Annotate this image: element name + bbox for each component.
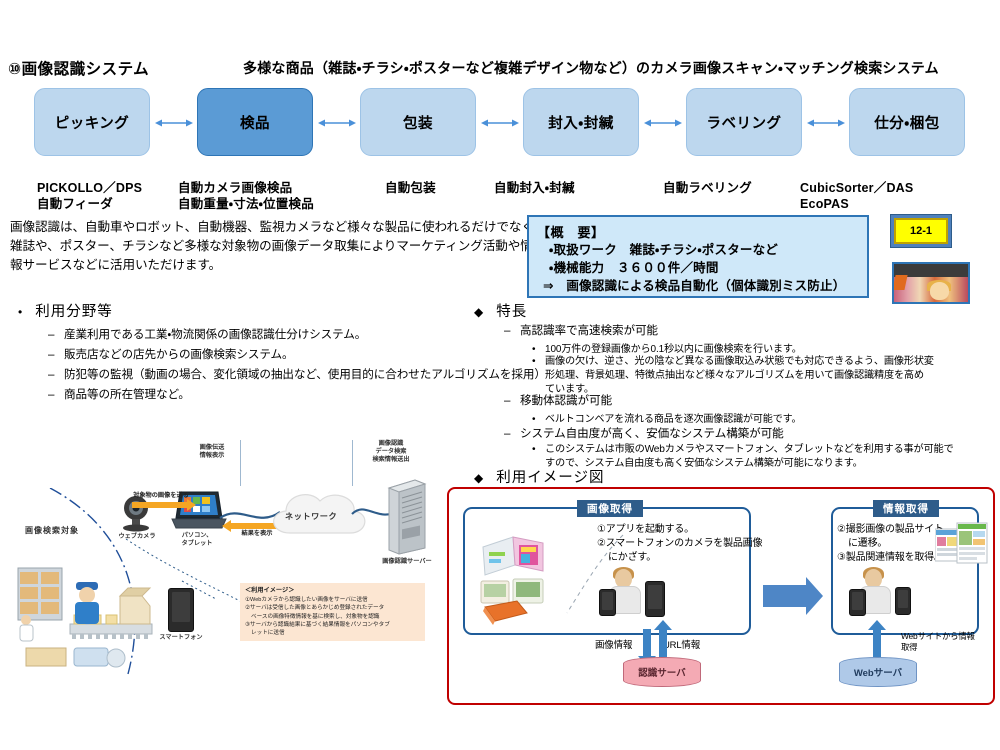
flow-step-label: ピッキング [55, 112, 130, 133]
fields-item-label: 商品等の所在管理など。 [64, 388, 190, 401]
dot-marker: • [532, 443, 545, 457]
flow-caption-picking: PICKOLLO／DPS 自動フィーダ [37, 180, 142, 212]
summary-box: 【概 要】 ・取扱ワーク 雑誌・チラシ・ポスターなど ・機械能力 ３６００件／時… [527, 215, 869, 298]
recognition-server-cylinder: 認識サーバ [623, 657, 701, 687]
fields-item-label: 防犯等の監視（動画の場合、変化領域の抽出など、使用目的に合わせたアルゴリズムを採… [64, 368, 546, 381]
label-line: データ検索 [355, 448, 427, 456]
label-network: ネットワーク [285, 510, 337, 522]
usage-note-title: ＜利用イメージ＞ [245, 587, 420, 595]
fields-item-4: –商品等の所在管理など。 [48, 386, 190, 402]
arrow-web-to-device [873, 629, 881, 657]
feature-group-label: システム自由度が高く、安価なシステム構築が可能 [520, 427, 784, 440]
label-search-target: 画像検索対象 [25, 525, 79, 536]
arrow-send-image [132, 502, 188, 508]
caption-line: 自動ラベリング [663, 180, 752, 196]
flow-step-label: 包装 [403, 112, 433, 133]
caption-line: EcoPAS [800, 196, 913, 212]
flow-step-label: 仕分・梱包 [874, 112, 939, 133]
intro-line: 雑誌や、ポスター、チラシなど多様な対象物の画像データ取集によりマーケティング活動… [10, 237, 490, 256]
usage-note-line-cont: ベースの画像特徴情報を基に検索し、対象物を認識 [245, 613, 420, 621]
usage-note-line: ①Webカメラから認識したい画像をサーバに送信 [245, 596, 420, 604]
flow-step-sorting[interactable]: 仕分・梱包 [849, 88, 965, 156]
diamond-marker: ◆ [474, 471, 484, 485]
feature-detail-2-1: •ベルトコンベアを流れる商品を逐次画像認識が可能です。 [532, 410, 801, 425]
section-heading-features: ◆特長 [474, 300, 527, 321]
image-acquisition-title: 画像取得 [577, 500, 643, 517]
flow-caption-enclosing: 自動封入・封緘 [494, 180, 575, 196]
label-send-image: 対象物の画像を送る [128, 492, 194, 500]
photo-character-face [930, 282, 949, 299]
information-acquisition-steps: ②撮影画像の製品サイト に遷移。 ③製品関連情報を取得。 [837, 523, 944, 565]
flow-arrow-3 [481, 118, 519, 127]
feature-group-label: 移動体認識が可能 [520, 394, 612, 407]
label-image-recognition-search: 画像認識 データ検索 検索情報送出 [355, 440, 427, 464]
slide-root: ⑩画像認識システム 多様な商品（雑誌・チラシ・ポスターなど複雑デザイン物など）の… [0, 0, 1000, 750]
flow-step-inspection[interactable]: 検品 [197, 88, 313, 156]
fields-item-2: –販売店などの店先からの画像検索システム。 [48, 346, 294, 362]
flow-caption-sorting: CubicSorter／DAS EcoPAS [800, 180, 913, 212]
dot-marker: • [532, 414, 545, 425]
usage-note-line: ②サーバは受信した画像とあらかじめ登録されたデータ [245, 604, 420, 612]
summary-title: 【概 要】 [537, 222, 867, 241]
feature-detail-label: ベルトコンベアを流れる商品を逐次画像認識が可能です。 [545, 414, 801, 425]
step-line: ②撮影画像の製品サイト [837, 524, 944, 535]
label-line: 画像認識 [355, 440, 427, 448]
arrow-url-from-server [659, 629, 667, 657]
usage-note-line: ③サーバから認識結果に基づく結果情報をパソコンやタブ [245, 621, 420, 629]
dash-marker: – [504, 324, 520, 337]
dash-marker: – [48, 348, 64, 361]
step-line: ③製品関連情報を取得。 [837, 552, 944, 563]
usage-note-line-cont: レットに送信 [245, 629, 420, 637]
dash-marker: – [48, 368, 64, 381]
column-divider-right [352, 440, 353, 486]
feature-detail-1-2: •画像の欠け、逆さ、光の陰など異なる画像取込み状態でも対応できるよう、画像形状変… [532, 355, 992, 397]
intro-line: 画像認識は、自動車やロボット、自動機器、監視カメラなど様々な製品に使われるだけで… [10, 218, 490, 237]
person-held-phone-right [849, 589, 866, 616]
store-shelf-photo [892, 262, 970, 304]
flow-caption-packing: 自動包装 [385, 180, 436, 196]
feature-detail-label: 100万件の登録画像から0.1秒以内に画像検索を行います。 [545, 344, 802, 355]
caption-line: 自動包装 [385, 180, 436, 196]
dash-marker: – [48, 388, 64, 401]
arrow-image-to-server [643, 629, 651, 657]
label-line: 情報表示 [182, 452, 242, 460]
label-recognition-server: 画像認識サーバー [374, 558, 440, 566]
flow-step-label: ラベリング [707, 112, 782, 133]
section-heading-usage: ◆利用イメージ図 [474, 466, 604, 487]
standalone-phone-right [895, 587, 911, 615]
section-heading-fields: •利用分野等 [18, 300, 113, 321]
fields-item-1: –産業利用である工業・物流関係の画像認識仕分けシステム。 [48, 326, 366, 342]
flow-arrow-1 [155, 118, 193, 127]
flow-step-packing[interactable]: 包装 [360, 88, 476, 156]
dot-marker: • [532, 355, 545, 369]
feature-group-label: 高認識率で高速検索が可能 [520, 324, 658, 337]
step-line-cont: に遷移。 [837, 537, 944, 551]
diamond-marker: ◆ [474, 305, 484, 319]
feature-group-2-title: –移動体認識が可能 [504, 392, 612, 408]
section-heading-label: 利用分野等 [35, 304, 113, 320]
caption-line: PICKOLLO／DPS [37, 180, 142, 196]
flow-step-label: 検品 [240, 112, 270, 133]
summary-item: ・機械能力 ３６００件／時間 [537, 259, 867, 277]
label-image-info: 画像情報 [595, 637, 632, 651]
flow-step-enclosing[interactable]: 封入・封緘 [523, 88, 639, 156]
dot-marker: • [532, 344, 545, 355]
caption-line: CubicSorter／DAS [800, 180, 913, 196]
flow-caption-inspection: 自動カメラ画像検品 自動重量・寸法・位置検品 [178, 180, 314, 212]
label-line: 画像伝送 [182, 444, 242, 452]
caption-line: 自動カメラ画像検品 [178, 180, 314, 196]
flow-step-label: 封入・封緘 [548, 112, 613, 133]
usage-note-box: ＜利用イメージ＞ ①Webカメラから認識したい画像をサーバに送信 ②サーバは受信… [240, 583, 425, 641]
dash-marker: – [48, 328, 64, 341]
feature-group-1-title: –高認識率で高速検索が可能 [504, 322, 658, 338]
web-server-cylinder: Webサーバ [839, 657, 917, 687]
caption-line: 自動封入・封緘 [494, 180, 575, 196]
label-image-transmission: 画像伝送 情報表示 [182, 444, 242, 460]
intro-line: 報サービスなどに活用いただけます。 [10, 256, 490, 275]
fields-item-3: –防犯等の監視（動画の場合、変化領域の抽出など、使用目的に合わせたアルゴリズムを… [48, 366, 546, 382]
page-subtitle: 多様な商品（雑誌・チラシ・ポスターなど複雑デザイン物など）のカメラ画像スキャン・… [243, 58, 939, 78]
flow-step-picking[interactable]: ピッキング [34, 88, 150, 156]
section-heading-label: 特長 [496, 304, 527, 320]
feature-detail-label: このシステムは市販のWebカメラやスマートフォン、タブレットなどを利用する事が可… [545, 444, 953, 455]
process-flow: ピッキング 検品 包装 封入・封緘 ラベリング 仕分・梱包 [34, 88, 964, 160]
bullet-marker: • [18, 305, 23, 319]
fields-item-label: 産業利用である工業・物流関係の画像認識仕分けシステム。 [64, 328, 366, 341]
feature-detail-label-cont: 形処理、背景処理、特徴点抽出など様々なアルゴリズムを用いて画像認識精度を高め [532, 369, 992, 383]
fields-item-label: 販売店などの店先からの画像検索システム。 [64, 348, 294, 361]
dash-marker: – [504, 394, 520, 407]
transition-arrow [763, 585, 807, 607]
label-web-info: Webサイトから情報取得 [901, 631, 981, 653]
dash-marker: – [504, 427, 520, 440]
intro-paragraph: 画像認識は、自動車やロボット、自動機器、監視カメラなど様々な製品に使われるだけで… [10, 218, 490, 275]
flow-arrow-2 [318, 118, 356, 127]
person-held-phone-left [599, 589, 616, 616]
flow-step-labeling[interactable]: ラベリング [686, 88, 802, 156]
page-title: ⑩画像認識システム [8, 57, 149, 79]
flow-caption-labeling: 自動ラベリング [663, 180, 752, 196]
feature-group-3-title: –システム自由度が高く、安価なシステム構築が可能 [504, 425, 784, 441]
section-heading-label: 利用イメージ図 [496, 470, 604, 486]
badge-label: 12-1 [894, 218, 948, 244]
usage-image-figure: 画像取得 ①アプリを起動する。 ②スマートフォンのカメラを製品画像 にかざす。 [447, 487, 995, 705]
flow-arrow-5 [807, 118, 845, 127]
website-thumbnails [935, 521, 989, 571]
label-url-info: URL情報 [663, 637, 700, 651]
page-number-badge: 12-1 [890, 214, 952, 248]
standalone-phone-left [645, 581, 665, 617]
summary-conclusion: ⇒ 画像認識による検品自動化（個体識別ミス防止） [537, 277, 867, 295]
feature-detail-1-1: •100万件の登録画像から0.1秒以内に画像検索を行います。 [532, 340, 802, 355]
label-line: 検索情報送出 [355, 456, 427, 464]
flow-arrow-4 [644, 118, 682, 127]
information-acquisition-title: 情報取得 [873, 500, 939, 517]
feature-detail-label: 画像の欠け、逆さ、光の陰など異なる画像取込み状態でも対応できるよう、画像形状変 [545, 356, 934, 367]
summary-item: ・取扱ワーク 雑誌・チラシ・ポスターなど [537, 241, 867, 259]
server-icon [385, 478, 429, 556]
caption-line: 自動重量・寸法・位置検品 [178, 196, 314, 212]
caption-line: 自動フィーダ [37, 196, 142, 212]
